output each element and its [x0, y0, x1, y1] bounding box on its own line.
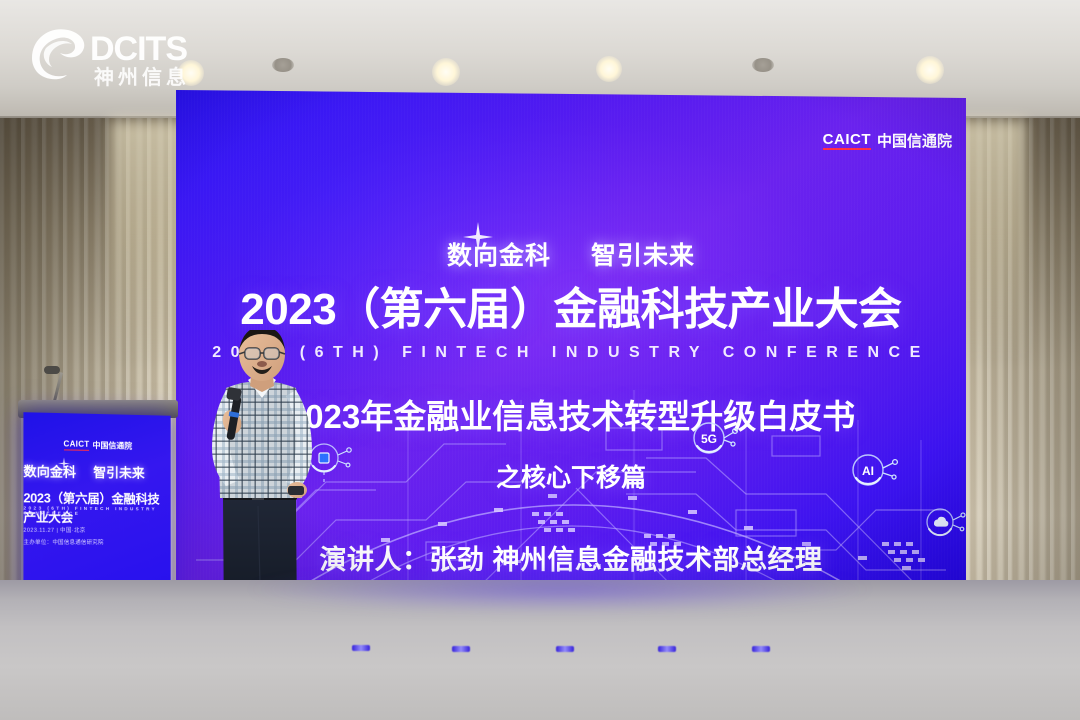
ceiling-spotlight [178, 60, 204, 86]
caict-latin: CAICT [823, 132, 871, 150]
tagline-right: 智引未来 [591, 242, 695, 270]
conference-photo-scene: CAICT 中国信通院 数向金科 智引未来 2023（第六届）金融科技产业大会 … [0, 0, 1080, 720]
floor-screen-reflection [250, 566, 870, 612]
ceiling-spotlight [432, 58, 460, 86]
floor-marker [352, 645, 370, 651]
conference-tagline: 数向金科 智引未来 [176, 236, 966, 272]
floor-marker [556, 646, 574, 652]
ceiling-vent [272, 58, 294, 72]
podium-sponsor-logo: CAICT 中国信通院 [23, 439, 170, 453]
floor-marker [658, 646, 676, 652]
caict-sponsor-logo: CAICT 中国信通院 [823, 132, 952, 150]
podium-sponsor-cn: 中国信通院 [92, 440, 132, 452]
caict-chinese: 中国信通院 [877, 134, 952, 149]
ceiling-spotlight [596, 56, 622, 82]
podium-host-line: 主办单位：中国信息通信研究院 [23, 538, 170, 546]
conference-title-cn: 2023（第六届）金融科技产业大会 [176, 286, 966, 334]
podium-tagline: 数向金科 智引未来 [23, 461, 170, 482]
podium-title-en: 2023 (6TH) FINTECH INDUSTRY CONFERENCE [23, 505, 170, 516]
podium-microphone-head [44, 366, 60, 374]
podium-tagline-right: 智引未来 [93, 465, 144, 481]
ceiling-vent [752, 58, 774, 72]
tagline-left: 数向金科 [447, 242, 551, 270]
floor-marker [752, 646, 770, 652]
floor-marker [452, 646, 470, 652]
ceiling-spotlight [916, 56, 944, 84]
podium-tagline-left: 数向金科 [23, 464, 76, 480]
podium-sponsor-latin: CAICT [63, 440, 89, 451]
podium-date-line: 2023.11.27 | 中国·北京 [23, 526, 170, 535]
